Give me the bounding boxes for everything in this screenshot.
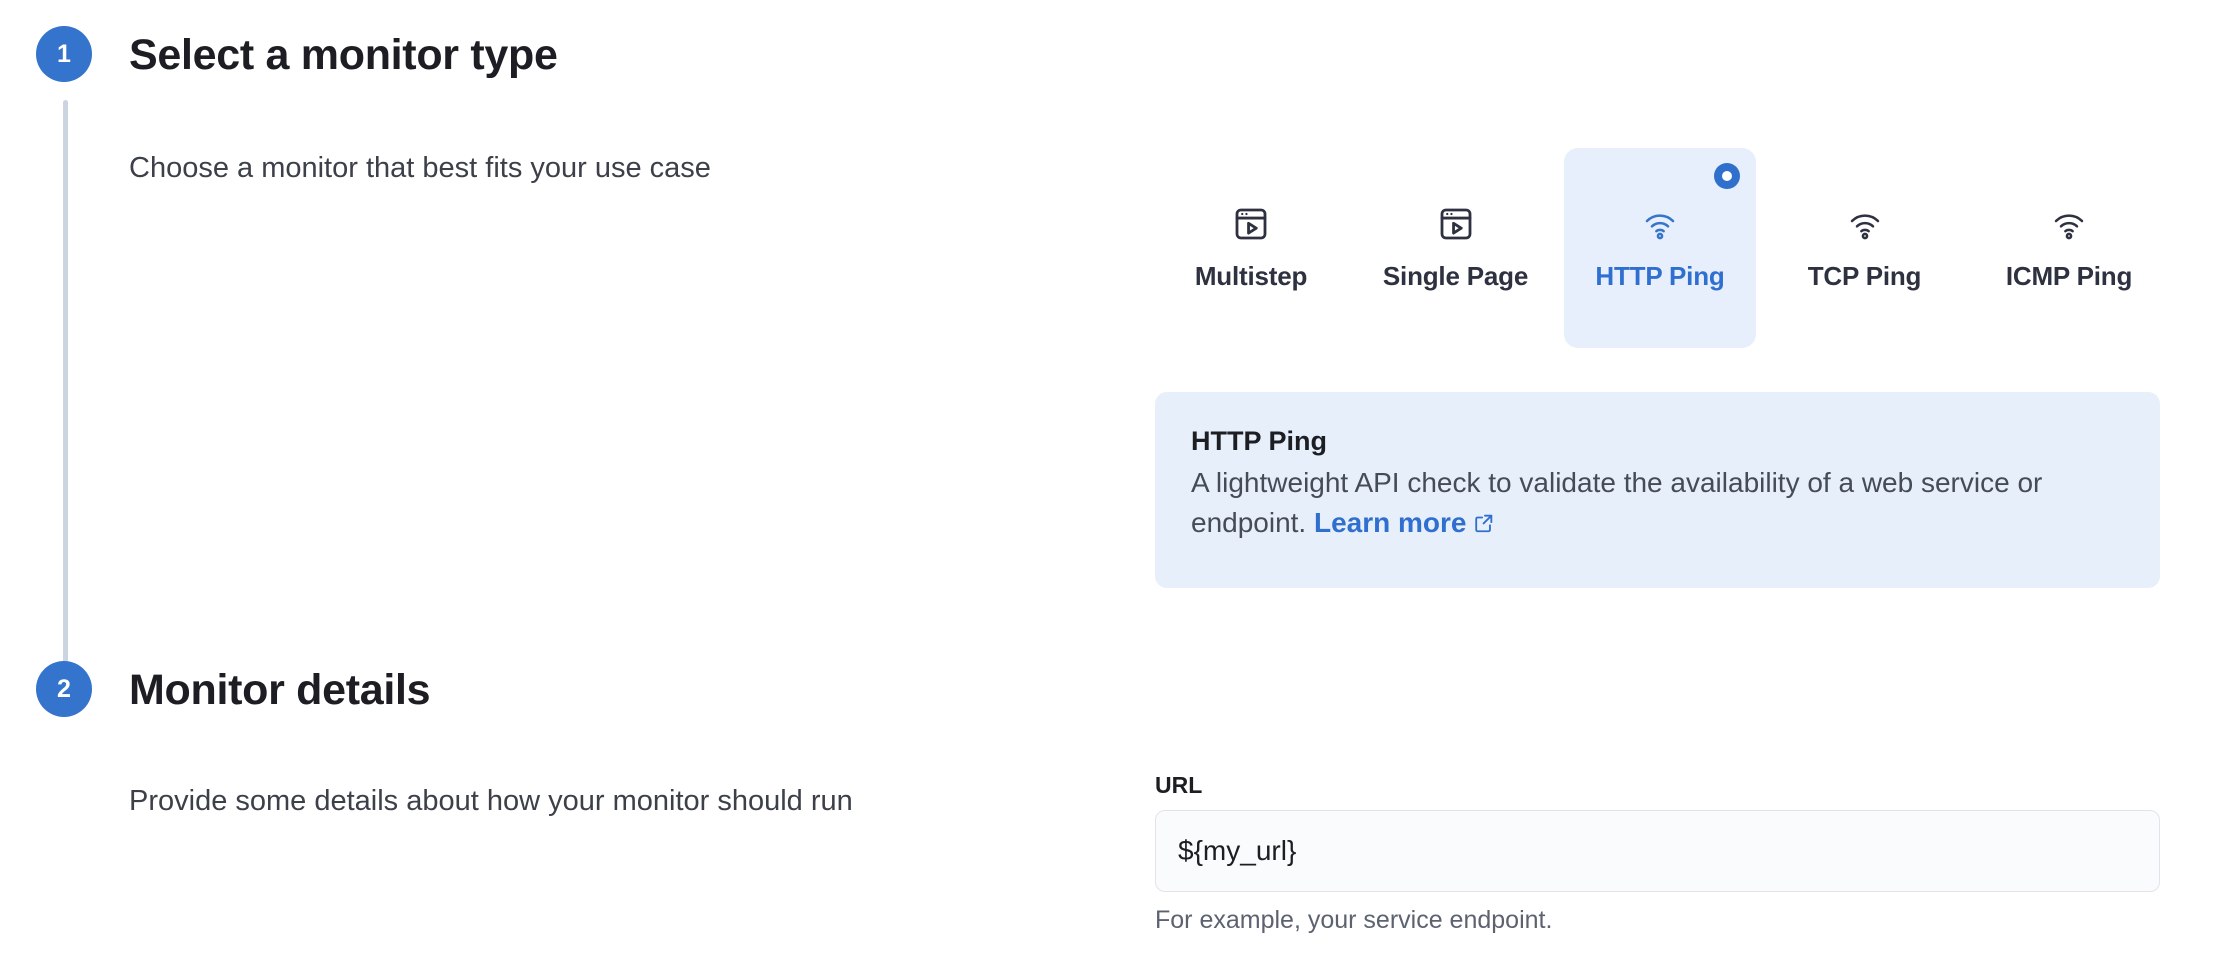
section-description: Provide some details about how your moni… xyxy=(129,785,853,818)
page-title: Select a monitor type xyxy=(129,31,558,80)
monitor-type-label: Multistep xyxy=(1195,261,1307,292)
monitor-type-option-icmp-ping[interactable]: ICMP Ping xyxy=(1973,148,2165,348)
step-number: 2 xyxy=(57,677,71,702)
url-field-help-text: For example, your service endpoint. xyxy=(1155,906,2160,935)
monitor-type-option-http-ping[interactable]: HTTP Ping xyxy=(1564,148,1756,348)
step-badge-1: 1 xyxy=(36,26,92,82)
url-field-label: URL xyxy=(1155,772,2160,799)
url-field-group: URL For example, your service endpoint. xyxy=(1155,772,2160,935)
monitor-type-option-multistep[interactable]: Multistep xyxy=(1155,148,1347,348)
monitor-type-label: ICMP Ping xyxy=(2006,261,2132,292)
monitor-type-label: HTTP Ping xyxy=(1595,261,1724,292)
monitor-type-option-tcp-ping[interactable]: TCP Ping xyxy=(1769,148,1961,348)
browser-play-icon xyxy=(1230,203,1272,245)
wifi-icon xyxy=(2048,203,2090,245)
radio-selected-icon[interactable] xyxy=(1714,163,1740,189)
stepper-connector-line xyxy=(63,100,68,688)
section-description: Choose a monitor that best fits your use… xyxy=(129,152,711,185)
callout-title: HTTP Ping xyxy=(1191,426,2124,457)
monitor-type-label: TCP Ping xyxy=(1808,261,1921,292)
browser-play-icon xyxy=(1435,203,1477,245)
section-title: Monitor details xyxy=(129,666,430,715)
monitor-type-picker: Multistep Single Page xyxy=(1155,148,2165,348)
create-monitor-wizard: 1 Select a monitor type Choose a monitor… xyxy=(0,0,2218,958)
learn-more-link[interactable]: Learn more xyxy=(1314,507,1467,538)
callout-body: A lightweight API check to validate the … xyxy=(1191,463,2121,543)
wifi-icon xyxy=(1844,203,1886,245)
step-badge-2: 2 xyxy=(36,661,92,717)
monitor-type-info-callout: HTTP Ping A lightweight API check to val… xyxy=(1155,392,2160,588)
monitor-type-label: Single Page xyxy=(1383,261,1528,292)
external-link-icon[interactable] xyxy=(1473,505,1495,527)
monitor-type-option-single-page[interactable]: Single Page xyxy=(1360,148,1552,348)
step-number: 1 xyxy=(57,42,71,67)
wifi-icon xyxy=(1639,203,1681,245)
url-input[interactable] xyxy=(1155,810,2160,892)
